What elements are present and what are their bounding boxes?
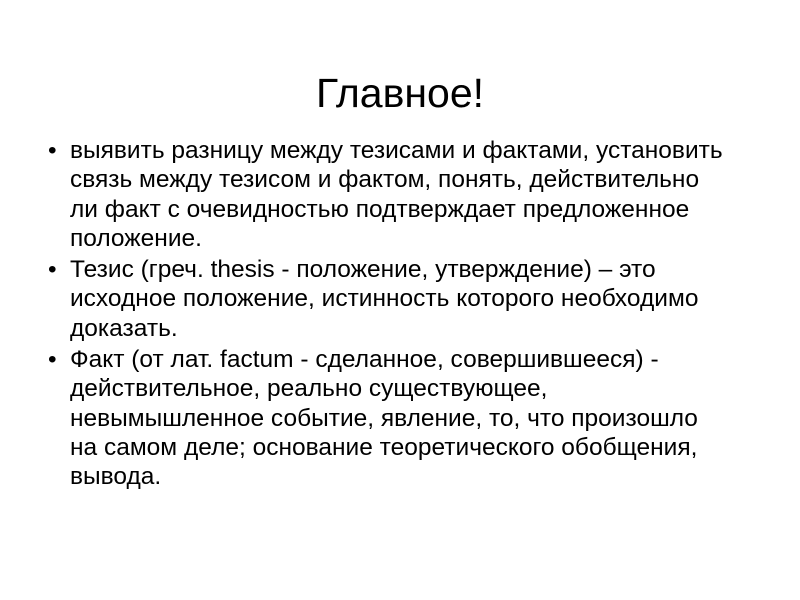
list-item-text: Факт (от лат. factum - сделанное, соверш… — [70, 345, 728, 491]
bullet-list: • выявить разницу между тезисами и факта… — [38, 136, 728, 492]
list-item: • Тезис (греч. thesis - положение, утвер… — [38, 255, 728, 343]
list-item: • Факт (от лат. factum - сделанное, сове… — [38, 345, 728, 491]
bullet-point-icon: • — [48, 345, 57, 374]
bullet-point-icon: • — [48, 136, 57, 165]
list-item-text: выявить разницу между тезисами и фактами… — [70, 136, 728, 253]
page-title: Главное! — [0, 69, 800, 117]
list-item: • выявить разницу между тезисами и факта… — [38, 136, 728, 253]
presentation-slide: Главное! • выявить разницу между тезисам… — [0, 0, 800, 600]
slide-content-body: • выявить разницу между тезисами и факта… — [38, 136, 728, 494]
list-item-text: Тезис (греч. thesis - положение, утвержд… — [70, 255, 728, 343]
bullet-point-icon: • — [48, 255, 57, 284]
